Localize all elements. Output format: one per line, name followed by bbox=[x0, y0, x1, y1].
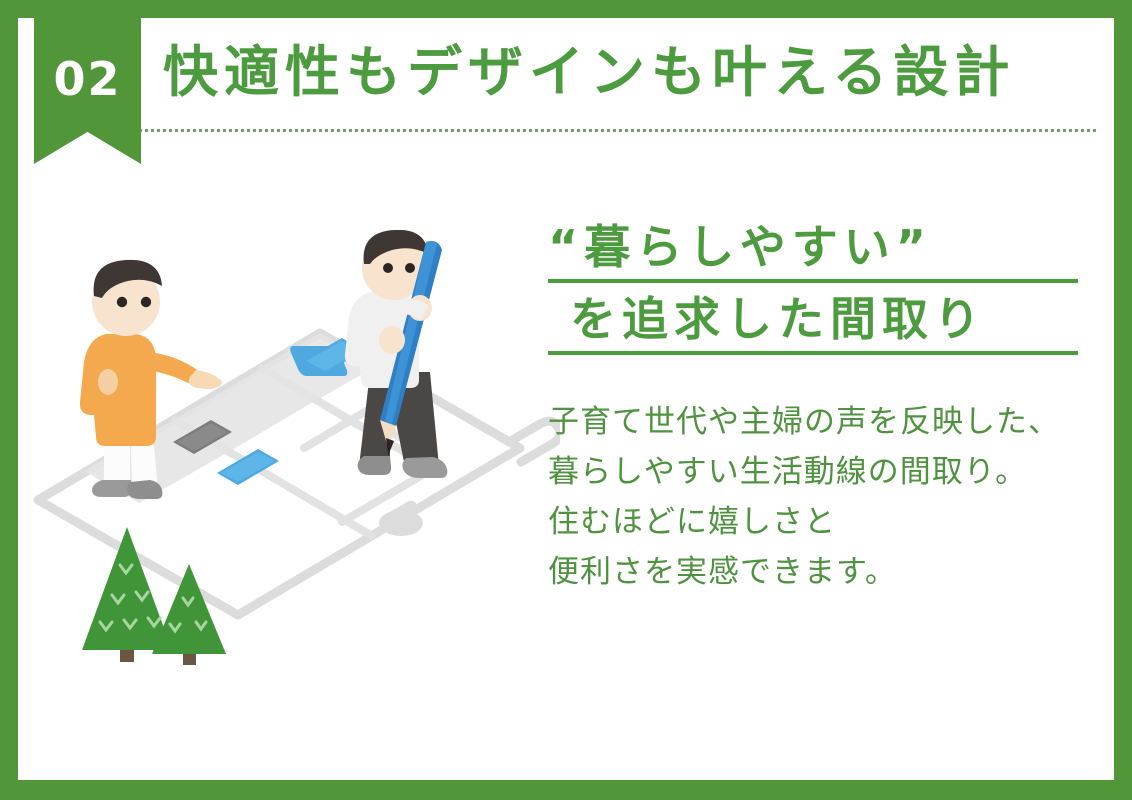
dotted-divider bbox=[26, 129, 1096, 132]
subheading-line-2: を追求した間取り bbox=[548, 290, 1078, 355]
body-copy: 子育て世代や主婦の声を反映した、 暮らしやすい生活動線の間取り。 住むほどに嬉し… bbox=[548, 397, 1078, 598]
subheading-line-1: “暮らしやすい” bbox=[548, 218, 1078, 283]
page-title: 快適性もデザインも叶える設計 bbox=[163, 44, 1103, 102]
section-number-label: 02 bbox=[34, 56, 141, 102]
body-line-3: 住むほどに嬉しさと bbox=[548, 497, 1078, 547]
body-line-4: 便利さを実感できます。 bbox=[548, 547, 1078, 597]
ribbon-gap-strip bbox=[26, 18, 34, 172]
slide-page: 02 快適性もデザインも叶える設計 bbox=[0, 0, 1132, 800]
isometric-floorplan-illustration bbox=[20, 230, 560, 700]
body-line-1: 子育て世代や主婦の声を反映した、 bbox=[548, 397, 1078, 447]
body-line-2: 暮らしやすい生活動線の間取り。 bbox=[548, 447, 1078, 497]
text-column: “暮らしやすい” を追求した間取り 子育て世代や主婦の声を反映した、 暮らしやす… bbox=[548, 218, 1078, 598]
